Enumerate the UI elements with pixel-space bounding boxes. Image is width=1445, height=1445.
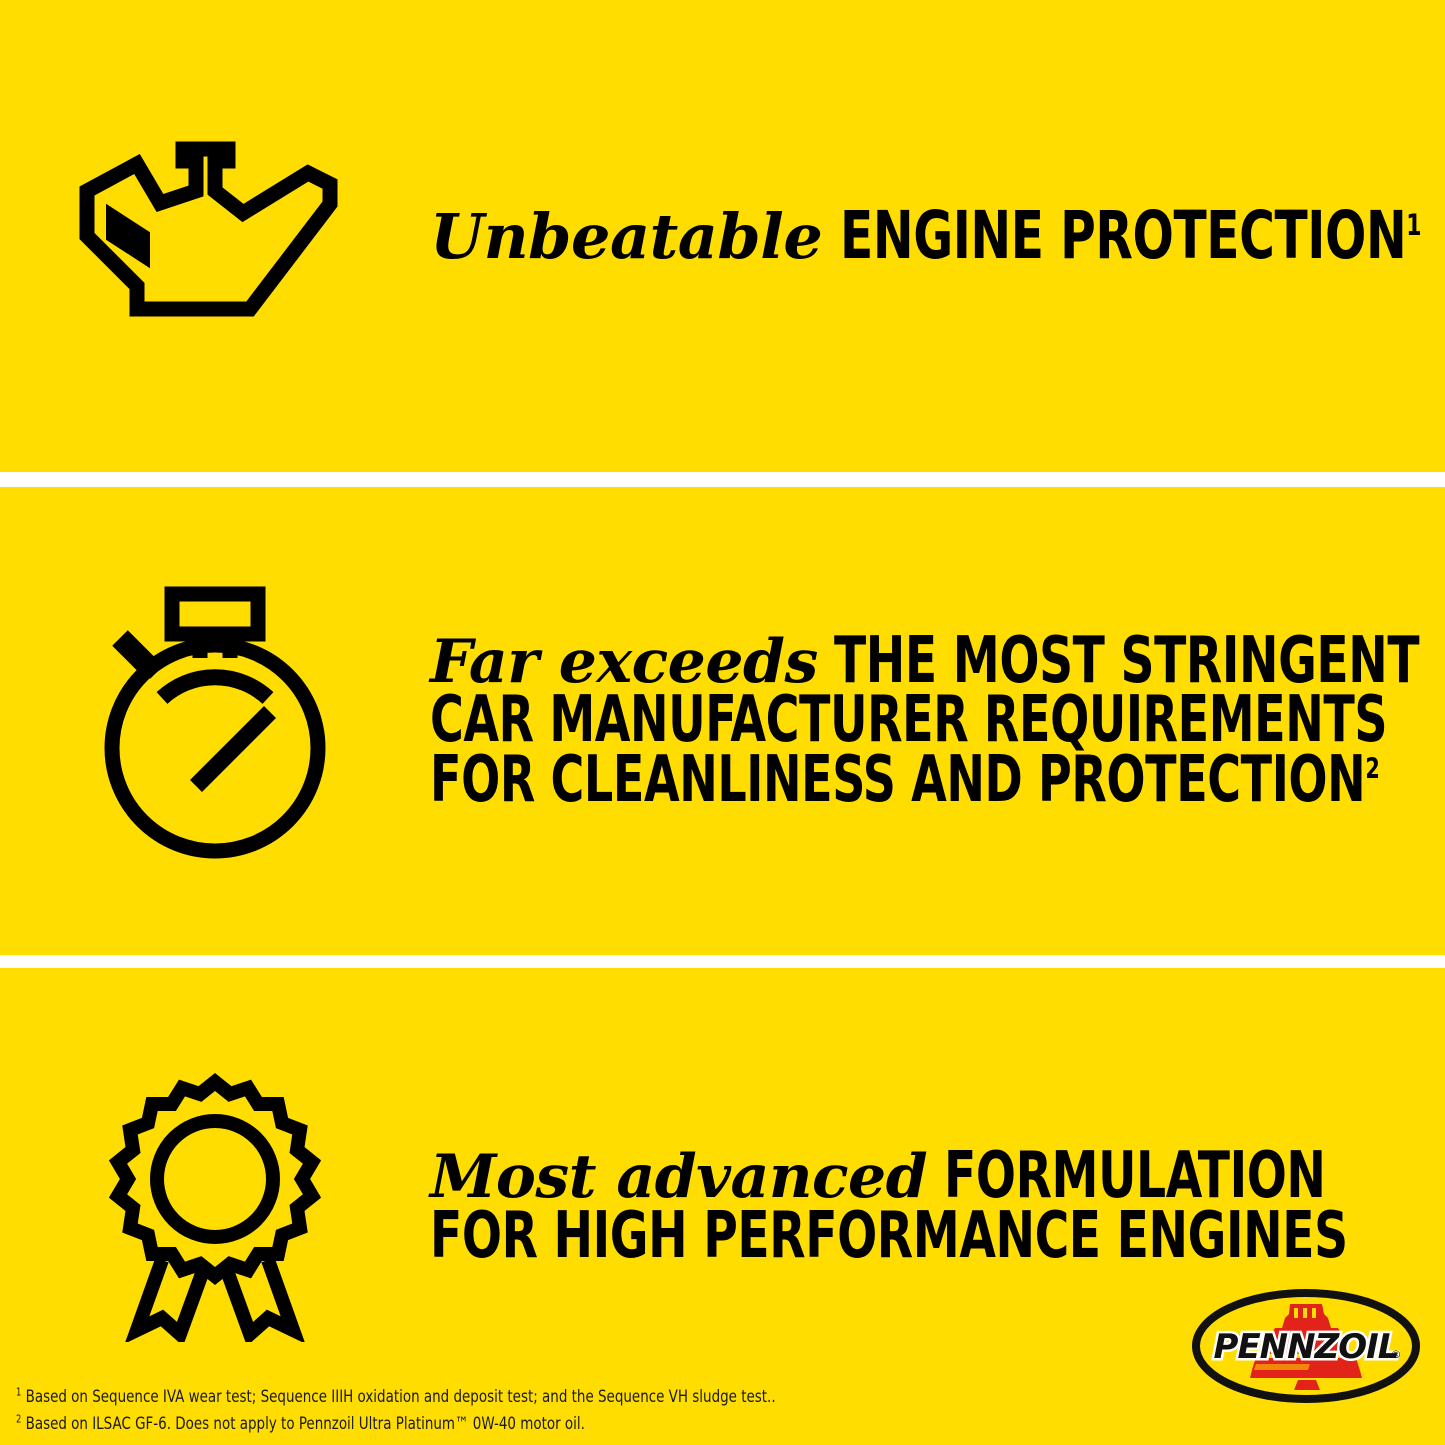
svg-text:PENNZOIL: PENNZOIL: [1214, 1327, 1399, 1367]
footnote-2-text: Based on ILSAC GF-6. Does not apply to P…: [26, 1414, 585, 1434]
stopwatch-icon-slot: [0, 576, 430, 866]
footnotes-block: 1 Based on Sequence IVA wear test; Seque…: [16, 1384, 1016, 1437]
svg-text:®: ®: [1391, 1348, 1402, 1361]
footnote-1-text: Based on Sequence IVA wear test; Sequenc…: [26, 1387, 776, 1407]
award-ribbon-icon: [100, 1072, 330, 1342]
pennzoil-wordmark: PENNZOIL ®: [1214, 1327, 1402, 1367]
stopwatch-icon: [90, 576, 340, 866]
panel-2-headline-line-3: FOR CLEANLINESS AND PROTECTION2: [430, 751, 1445, 811]
panel-2-text-slot: Far exceeds THE MOST STRINGENT CAR MANUF…: [430, 632, 1445, 811]
panel-2-headline-bold-3-wrap: FOR CLEANLINESS AND PROTECTION2: [430, 751, 1379, 811]
feature-panel-engine-protection: Unbeatable ENGINE PROTECTION1: [0, 0, 1445, 472]
panel-2-footnote-marker: 2: [1365, 751, 1379, 785]
panel-2-headline-bold-3: FOR CLEANLINESS AND PROTECTION: [430, 743, 1365, 817]
panel-3-headline-line-2: FOR HIGH PERFORMANCE ENGINES: [430, 1207, 1445, 1267]
panel-1-headline-bold: ENGINE PROTECTION1: [840, 205, 1421, 266]
oil-can-icon-slot: [0, 141, 430, 331]
footnote-2: 2 Based on ILSAC GF-6. Does not apply to…: [16, 1411, 896, 1437]
panel-1-headline: Unbeatable ENGINE PROTECTION1: [430, 205, 1445, 267]
panel-1-headline-italic: Unbeatable: [430, 200, 822, 273]
award-ribbon-icon-slot: [0, 1072, 430, 1342]
footnote-1: 1 Based on Sequence IVA wear test; Seque…: [16, 1384, 896, 1410]
oil-can-icon: [65, 141, 365, 331]
panel-3-text-slot: Most advanced FORMULATION FOR HIGH PERFO…: [430, 1147, 1445, 1266]
footnote-2-marker: 2: [16, 1413, 21, 1425]
pennzoil-logo-svg: PENNZOIL ®: [1190, 1288, 1422, 1404]
footnote-1-marker: 1: [16, 1387, 21, 1399]
feature-panel-manufacturer-requirements: Far exceeds THE MOST STRINGENT CAR MANUF…: [0, 487, 1445, 955]
infographic-page: Unbeatable ENGINE PROTECTION1: [0, 0, 1445, 1445]
panel-1-footnote-marker: 1: [1406, 208, 1421, 243]
pennzoil-logo: PENNZOIL ®: [1190, 1288, 1422, 1404]
panel-3-headline-bold-2: FOR HIGH PERFORMANCE ENGINES: [430, 1207, 1348, 1267]
panel-2-headline: Far exceeds THE MOST STRINGENT CAR MANUF…: [430, 632, 1445, 811]
panel-1-headline-bold-text: ENGINE PROTECTION: [840, 197, 1406, 274]
panel-1-text-slot: Unbeatable ENGINE PROTECTION1: [430, 205, 1445, 267]
panel-3-headline: Most advanced FORMULATION FOR HIGH PERFO…: [430, 1147, 1445, 1266]
